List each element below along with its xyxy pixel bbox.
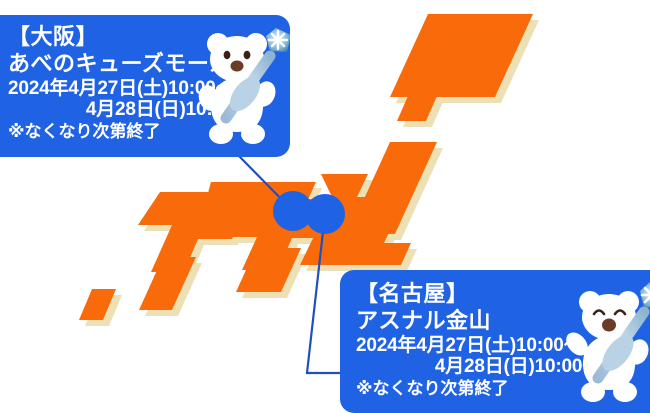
marker-nagoya[interactable]: [305, 194, 345, 234]
promo-map-graphic: 【大阪】 あべのキューズモール 2024年4月27日(土)10:00～ 4月28…: [0, 0, 650, 413]
callout-nagoya[interactable]: 【名古屋】 アスナル金山 2024年4月27日(土)10:00～ 4月28日(日…: [340, 270, 650, 413]
callout-osaka[interactable]: 【大阪】 あべのキューズモール 2024年4月27日(土)10:00～ 4月28…: [0, 15, 290, 157]
polar-bear-mascot-icon: [560, 276, 650, 408]
polar-bear-mascot-icon: [190, 22, 290, 150]
connector-line-nagoya: [307, 214, 341, 373]
sparkle-icon: [269, 31, 287, 49]
